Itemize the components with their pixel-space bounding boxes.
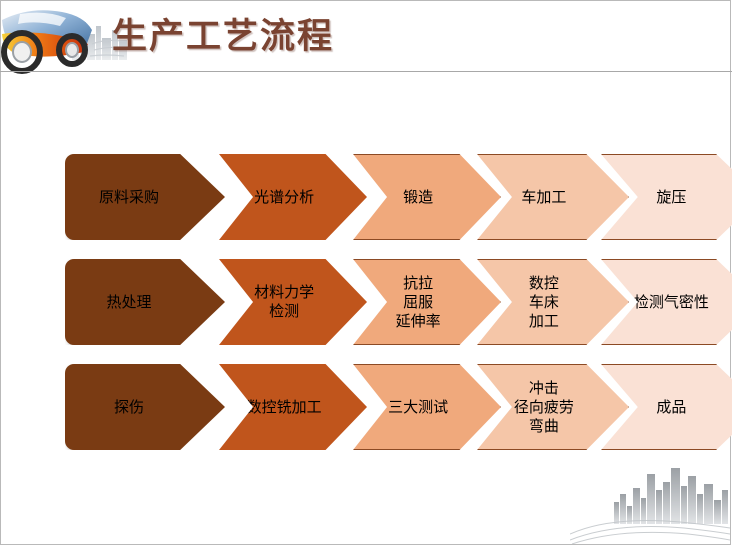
flow-step-label: 成品 — [654, 398, 688, 417]
flow-step[interactable]: 光谱分析 — [219, 154, 367, 240]
flow-step-label: 锻造 — [401, 188, 435, 207]
flow-step[interactable]: 热处理 — [65, 259, 225, 345]
city-skyline-icon — [570, 454, 730, 544]
flow-step-label: 旋压 — [654, 188, 688, 207]
flow-row-3: 探伤 数控铣加工 三大测试 冲击 径向疲劳 弯曲 成品 — [65, 364, 697, 450]
flow-step-label: 抗拉 屈服 延伸率 — [394, 274, 443, 331]
flow-step[interactable]: 材料力学 检测 — [219, 259, 367, 345]
flow-step[interactable]: 抗拉 屈服 延伸率 — [353, 259, 501, 345]
flow-step[interactable]: 探伤 — [65, 364, 225, 450]
flow-step[interactable]: 锻造 — [353, 154, 501, 240]
flow-step-label: 三大测试 — [386, 398, 450, 417]
slide-header: 生产工艺流程 — [0, 0, 732, 78]
slide-canvas: 生产工艺流程 原料采购 光谱分析 锻造 车加工 旋压 热处理 — [0, 0, 732, 546]
flow-row-2: 热处理 材料力学 检测 抗拉 屈服 延伸率 数控 车床 加工 检测气密性 — [65, 259, 697, 345]
flow-step[interactable]: 原料采购 — [65, 154, 225, 240]
flow-step[interactable]: 三大测试 — [353, 364, 501, 450]
flow-step-label: 数控 车床 加工 — [527, 274, 561, 331]
flow-step-label: 材料力学 检测 — [252, 283, 316, 321]
header-divider — [0, 71, 732, 72]
flow-step-label: 探伤 — [112, 398, 146, 417]
flow-row-1: 原料采购 光谱分析 锻造 车加工 旋压 — [65, 154, 697, 240]
racing-car-icon — [0, 0, 130, 76]
flow-step-label: 光谱分析 — [252, 188, 316, 207]
flow-step-label: 热处理 — [104, 293, 153, 312]
flow-step-label: 数控铣加工 — [245, 398, 324, 417]
flow-step-label: 原料采购 — [97, 188, 161, 207]
flow-step[interactable]: 数控铣加工 — [219, 364, 367, 450]
flow-step-label: 检测气密性 — [632, 293, 711, 312]
process-flow-diagram: 原料采购 光谱分析 锻造 车加工 旋压 热处理 材料力学 检测 — [65, 154, 697, 454]
page-title: 生产工艺流程 — [112, 8, 334, 59]
flow-step-label: 冲击 径向疲劳 弯曲 — [512, 379, 576, 436]
flow-step-label: 车加工 — [519, 188, 568, 207]
